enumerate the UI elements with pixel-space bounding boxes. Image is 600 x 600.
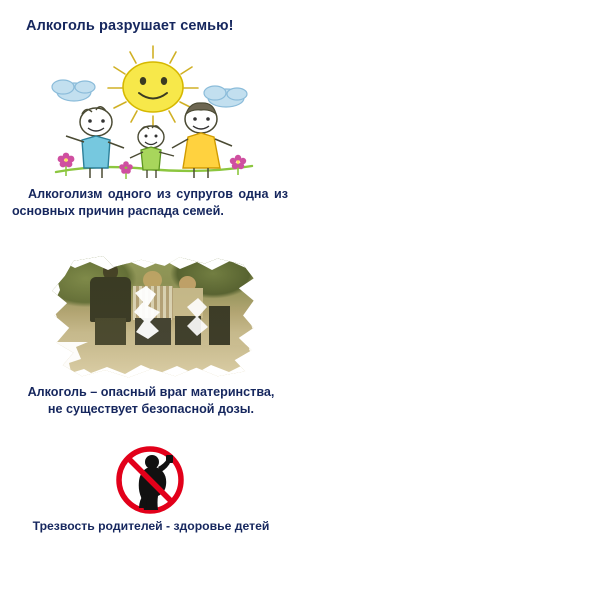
child-drawing-illustration: [38, 36, 268, 184]
torn-family-photo: [48, 256, 260, 380]
page-title: Алкоголь разрушает семью!: [26, 18, 286, 34]
left-paragraph-1-text: Алкоголизм одного из супругов одна из ос…: [12, 187, 288, 218]
poster-canvas: Алкоголь разрушает семью!: [0, 0, 600, 600]
left-column: Алкоголь разрушает семью!: [0, 0, 300, 600]
right-column: Алкоголь – это потеря здоровья! Злоупотр…: [300, 0, 600, 600]
left-paragraph-3: Трезвость родителей - здоровье детей: [10, 518, 292, 535]
left-paragraph-1: Алкоголизм одного из супругов одна из ос…: [12, 186, 288, 219]
left-paragraph-2: Алкоголь – опасный враг материнства, не …: [20, 384, 282, 417]
no-alcohol-pregnancy-sign-icon: [108, 444, 192, 516]
